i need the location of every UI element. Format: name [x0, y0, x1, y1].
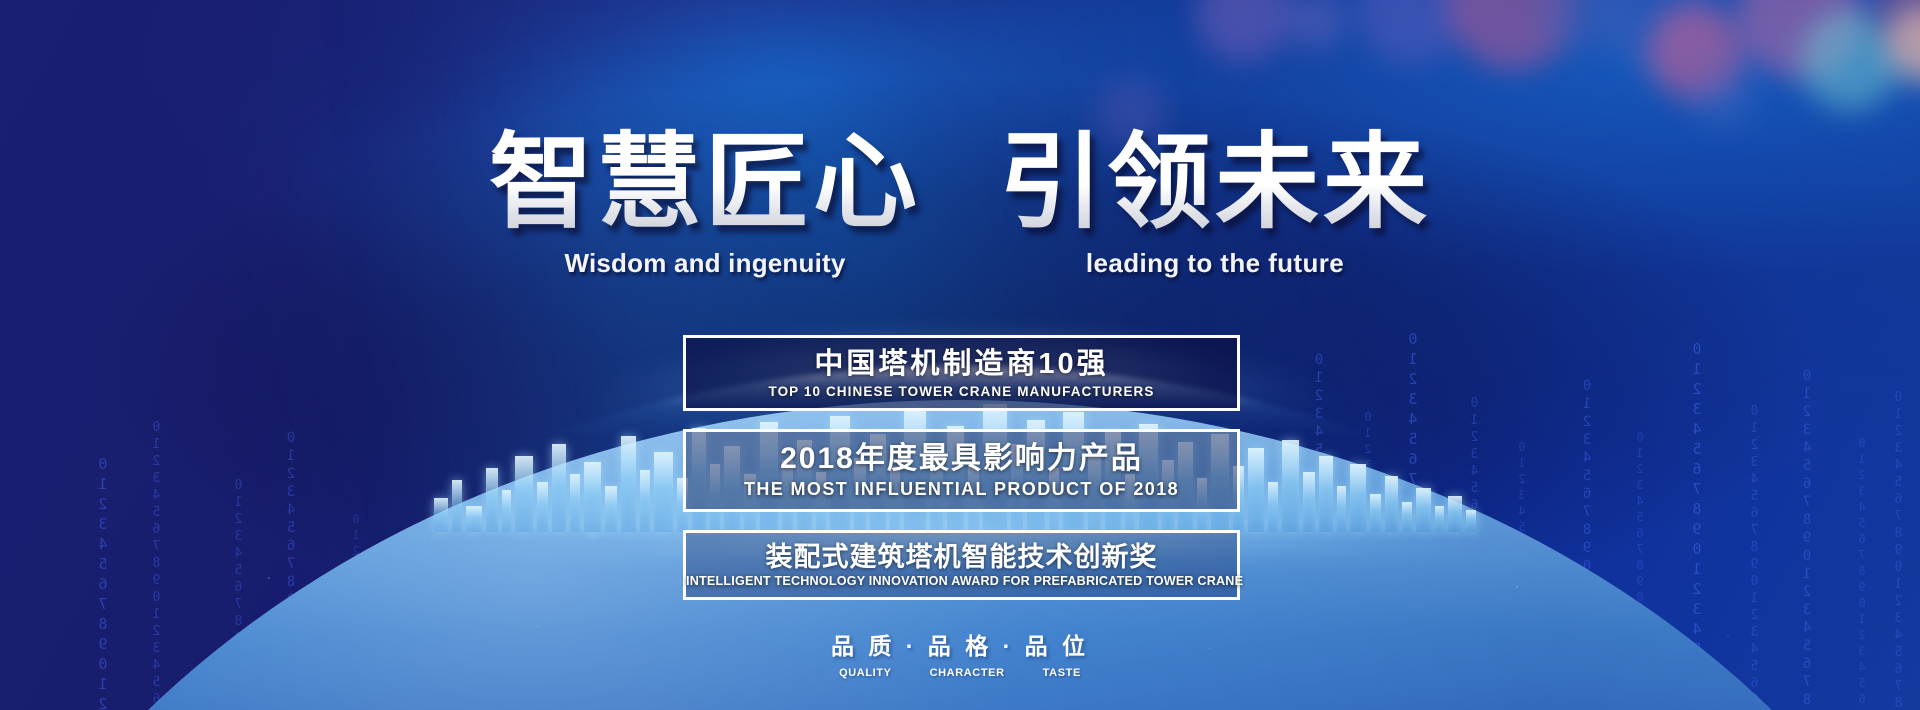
headline-en-left: Wisdom and ingenuity: [564, 248, 845, 279]
award-title-en: THE MOST INFLUENTIAL PRODUCT OF 2018: [686, 479, 1237, 500]
headline-row: 智慧匠心 Wisdom and ingenuity 引领未来 leading t…: [0, 128, 1920, 279]
award-title-en: TOP 10 CHINESE TOWER CRANE MANUFACTURERS: [686, 384, 1237, 399]
award-title-cn: 中国塔机制造商10强: [686, 347, 1237, 381]
award-title-en: INTELLIGENT TECHNOLOGY INNOVATION AWARD …: [686, 574, 1237, 588]
headline-cn-left: 智慧匠心: [489, 128, 921, 238]
hero-banner: 0123456789012345678901012345678901234567…: [0, 0, 1920, 710]
award-badge-innovation: 装配式建筑塔机智能技术创新奖 INTELLIGENT TECHNOLOGY IN…: [683, 530, 1240, 601]
award-badge-top10: 中国塔机制造商10强 TOP 10 CHINESE TOWER CRANE MA…: [683, 335, 1240, 411]
award-list: 中国塔机制造商10强 TOP 10 CHINESE TOWER CRANE MA…: [683, 335, 1240, 618]
headline-block-right: 引领未来 leading to the future: [999, 128, 1431, 279]
tagline-cn: 品 质 · 品 格 · 品 位: [831, 627, 1089, 661]
tagline-en-word: TASTE: [1043, 667, 1081, 679]
banner-content: 智慧匠心 Wisdom and ingenuity 引领未来 leading t…: [0, 0, 1920, 710]
award-title-cn: 2018年度最具影响力产品: [686, 441, 1237, 476]
headline-cn-right: 引领未来: [999, 128, 1431, 238]
tagline: 品 质 · 品 格 · 品 位 QUALITYCHARACTERTASTE: [0, 627, 1920, 679]
award-title-cn: 装配式建筑塔机智能技术创新奖: [686, 542, 1237, 574]
headline-block-left: 智慧匠心 Wisdom and ingenuity: [489, 128, 921, 279]
headline-en-right: leading to the future: [1086, 248, 1344, 279]
award-badge-influential-2018: 2018年度最具影响力产品 THE MOST INFLUENTIAL PRODU…: [683, 429, 1240, 511]
tagline-en-word: QUALITY: [839, 667, 891, 679]
tagline-en-word: CHARACTER: [930, 667, 1005, 679]
tagline-en-row: QUALITYCHARACTERTASTE: [839, 667, 1081, 679]
